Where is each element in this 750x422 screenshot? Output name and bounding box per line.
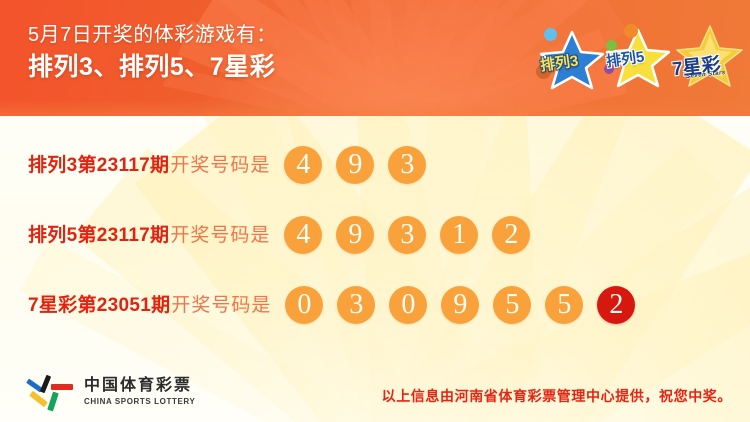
winning-number-ball: 9 (336, 146, 374, 184)
result-row-label: 7星彩第23051期开奖号码是 (28, 296, 271, 315)
winning-number-ball-special: 2 (597, 286, 635, 324)
logo-stroke-green (47, 392, 59, 412)
result-row: 排列3第23117期开奖号码是493 (0, 130, 750, 200)
winning-number-ball: 4 (284, 216, 322, 254)
winning-number-ball: 1 (440, 216, 478, 254)
result-row-label: 排列3第23117期开奖号码是 (28, 156, 270, 175)
winning-number-ball: 9 (441, 286, 479, 324)
header-line-2: 排列3、排列5、7星彩 (28, 51, 277, 83)
lottery-results-banner: 5月7日开奖的体彩游戏有： 排列3、排列5、7星彩 排列3 排列5 (0, 0, 750, 422)
decor-bubble-blue (544, 28, 557, 41)
results-list: 排列3第23117期开奖号码是493排列5第23117期开奖号码是493127星… (0, 130, 750, 340)
result-label-suffix: 开奖号码是 (170, 225, 270, 246)
winning-number-ball: 5 (493, 286, 531, 324)
winning-number-ball: 5 (545, 286, 583, 324)
logo-stroke-black (40, 375, 51, 394)
footer: 中国体育彩票 CHINA SPORTS LOTTERY 以上信息由河南省体育彩票… (0, 364, 750, 422)
result-row: 排列5第23117期开奖号码是49312 (0, 200, 750, 270)
winning-number-group: 0309552 (285, 286, 649, 324)
header-banner: 5月7日开奖的体彩游戏有： 排列3、排列5、7星彩 排列3 排列5 (0, 0, 750, 116)
brand-name-en: CHINA SPORTS LOTTERY (84, 398, 195, 406)
winning-number-ball: 2 (492, 216, 530, 254)
winning-number-group: 49312 (284, 216, 544, 254)
logo-stroke-yellow (29, 391, 48, 407)
result-game-and-issue: 7星彩第23051期 (28, 295, 170, 316)
game-logo-group: 排列3 排列5 7星彩 Seven Stars (530, 22, 742, 94)
winning-number-ball: 3 (388, 216, 426, 254)
winning-number-ball: 9 (336, 216, 374, 254)
brand-name-cn: 中国体育彩票 (84, 378, 195, 394)
header-text-block: 5月7日开奖的体彩游戏有： 排列3、排列5、7星彩 (28, 22, 277, 83)
header-bottom-fade (0, 100, 750, 116)
result-label-suffix: 开奖号码是 (170, 155, 270, 176)
game-logo-pailie3[interactable]: 排列3 (536, 28, 608, 90)
result-game-and-issue: 排列5第23117期 (28, 225, 169, 246)
result-game-and-issue: 排列3第23117期 (28, 155, 169, 176)
winning-number-ball: 0 (389, 286, 427, 324)
game-logo-pailie5[interactable]: 排列5 (602, 26, 674, 88)
winning-number-group: 493 (284, 146, 440, 184)
winning-number-ball: 4 (284, 146, 322, 184)
result-row: 7星彩第23051期开奖号码是0309552 (0, 270, 750, 340)
brand-text-block: 中国体育彩票 CHINA SPORTS LOTTERY (84, 378, 195, 406)
result-label-suffix: 开奖号码是 (171, 295, 271, 316)
result-row-label: 排列5第23117期开奖号码是 (28, 226, 270, 245)
footer-disclaimer: 以上信息由河南省体育彩票管理中心提供，祝您中奖。 (382, 386, 732, 406)
decor-bubble-orange (624, 24, 638, 38)
winning-number-ball: 3 (388, 146, 426, 184)
winning-number-ball: 0 (285, 286, 323, 324)
logo-stroke-red (51, 384, 73, 390)
header-line-1: 5月7日开奖的体彩游戏有： (28, 22, 277, 48)
game-logo-qixingcai[interactable]: 7星彩 Seven Stars (670, 24, 746, 92)
brand-block: 中国体育彩票 CHINA SPORTS LOTTERY (26, 372, 195, 412)
winning-number-ball: 3 (337, 286, 375, 324)
china-sports-lottery-logo-icon (26, 372, 76, 412)
